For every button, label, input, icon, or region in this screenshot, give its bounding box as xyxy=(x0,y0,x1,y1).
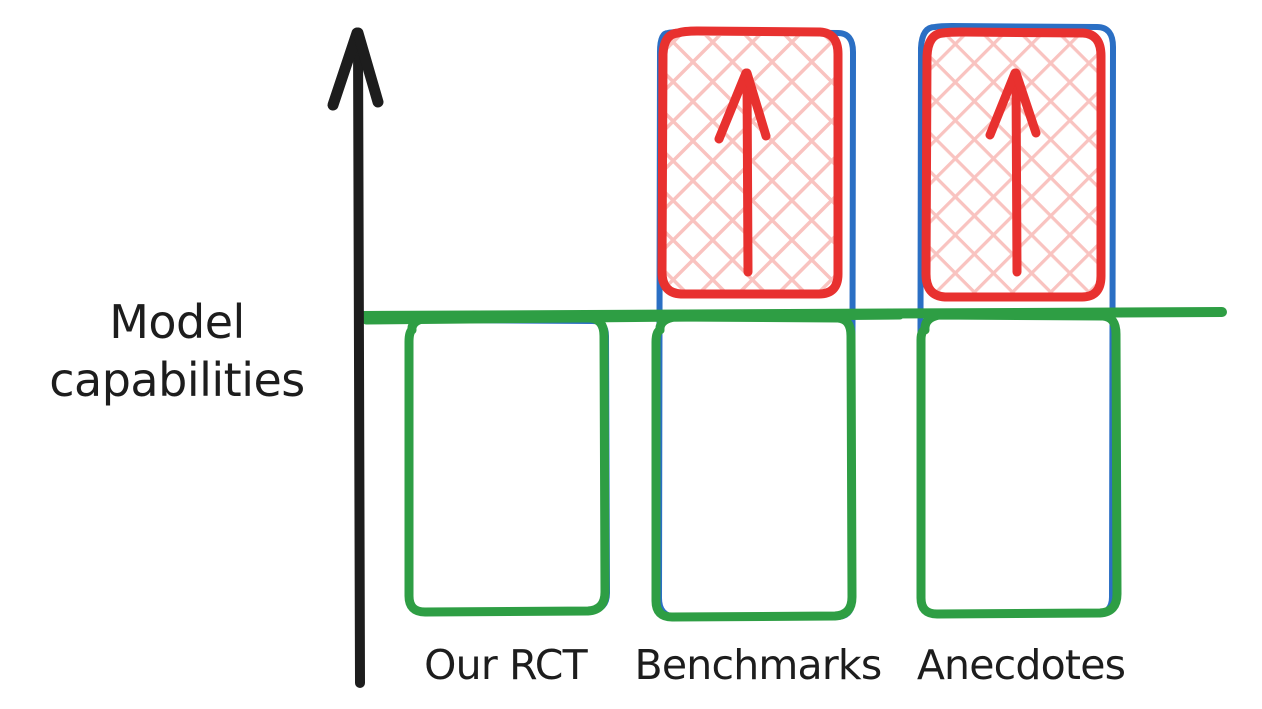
y-axis-label: Model capabilities xyxy=(18,293,336,409)
blue-outline-our-rct xyxy=(410,320,607,611)
hand-drawn-bar-chart: Model capabilities Our RCT Benchmarks An… xyxy=(0,0,1262,709)
category-label-benchmarks: Benchmarks xyxy=(628,641,888,689)
series-red-inflated-capability xyxy=(662,31,1101,297)
category-label-anecdotes: Anecdotes xyxy=(896,641,1146,689)
category-label-our-rct: Our RCT xyxy=(398,641,613,689)
green-box-anecdotes xyxy=(921,315,1117,614)
y-axis-label-line-1: Model xyxy=(18,293,336,351)
series-green-measured-capability xyxy=(409,315,1117,617)
y-axis-shaft xyxy=(358,34,360,683)
y-axis-arrow xyxy=(333,33,378,683)
y-axis-label-line-2: capabilities xyxy=(18,351,336,409)
green-box-our-rct xyxy=(409,318,605,612)
green-box-benchmarks xyxy=(656,317,852,617)
green-reference-line-overstroke xyxy=(366,316,900,321)
